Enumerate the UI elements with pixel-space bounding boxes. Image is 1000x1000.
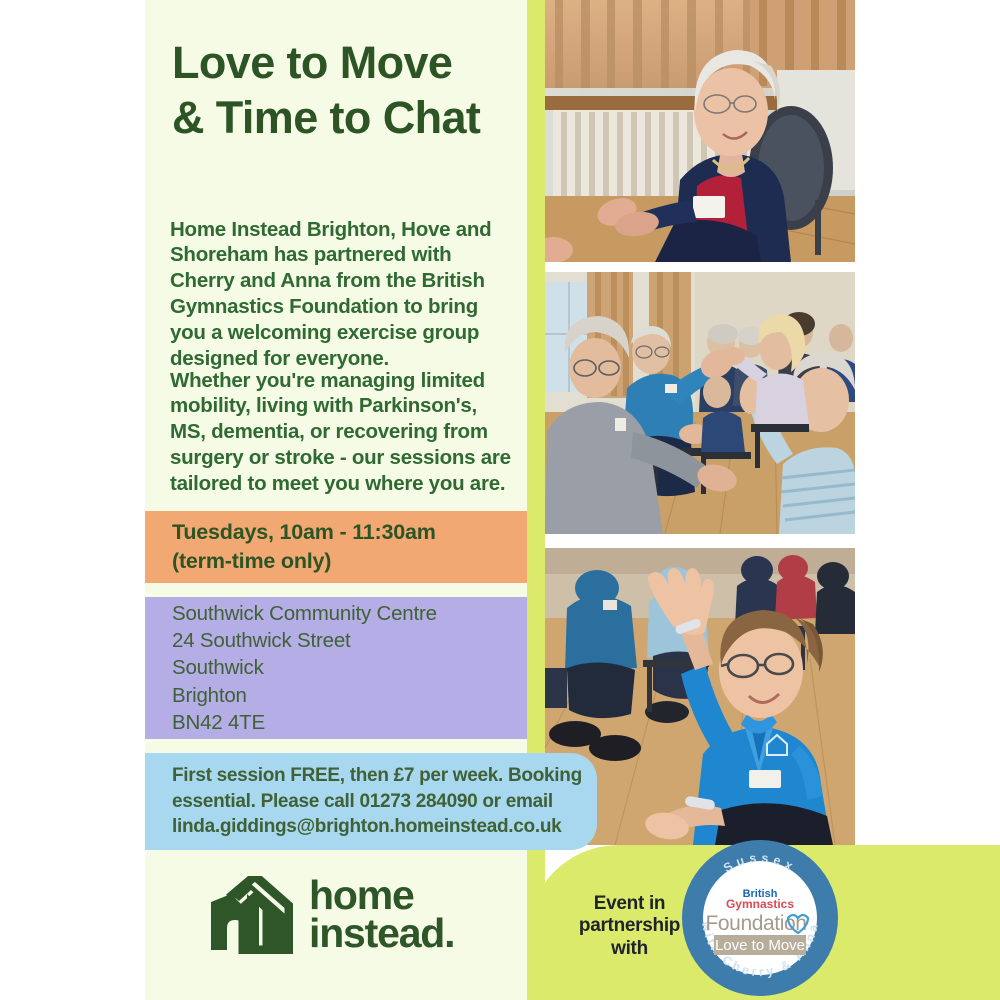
partnership-line-1: Event in <box>567 893 692 915</box>
address-line-postcode: BN42 4TE <box>172 709 437 736</box>
session-time-line-2: (term-time only) <box>172 547 436 576</box>
booking-info-block: First session FREE, then £7 per week. Bo… <box>145 753 597 850</box>
partnership-label: Event in partnership with <box>567 893 692 960</box>
partnership-line-2: partnership <box>567 915 692 937</box>
address-line-street: 24 Southwick Street <box>172 627 437 654</box>
badge-brand-gymnastics: Gymnastics <box>726 897 794 911</box>
session-time-text: Tuesdays, 10am - 11:30am (term-time only… <box>145 518 436 575</box>
headline-line-2: & Time to Chat <box>172 91 522 146</box>
home-instead-house-icon <box>207 876 293 954</box>
poster-headline: Love to Move & Time to Chat <box>172 36 522 146</box>
cream-content-panel <box>145 0 527 1000</box>
photo-seated-woman-clapping <box>545 0 855 262</box>
home-instead-logo: home instead. <box>207 872 477 958</box>
address-line-venue: Southwick Community Centre <box>172 600 437 627</box>
conditions-paragraph: Whether you're managing limited mobility… <box>170 368 515 497</box>
session-time-line-1: Tuesdays, 10am - 11:30am <box>172 518 436 547</box>
venue-address-block: Southwick Community Centre 24 Southwick … <box>145 597 527 739</box>
address-line-locality: Southwick <box>172 654 437 681</box>
logo-word-instead: instead <box>309 910 444 956</box>
booking-info-text: First session FREE, then £7 per week. Bo… <box>145 763 597 840</box>
poster-canvas: Love to Move & Time to Chat Home Instead… <box>0 0 1000 1000</box>
home-instead-wordmark: home instead. <box>309 877 454 952</box>
session-time-block: Tuesdays, 10am - 11:30am (term-time only… <box>145 511 527 583</box>
partnership-line-3: with <box>567 938 692 960</box>
photo-group-exercise-circle <box>545 272 855 534</box>
logo-word-instead-wrap: instead. <box>309 915 454 953</box>
badge-programme-label: Love to Move <box>715 937 805 954</box>
address-line-town: Brighton <box>172 682 437 709</box>
headline-line-1: Love to Move <box>172 37 452 88</box>
venue-address-text: Southwick Community Centre 24 Southwick … <box>145 600 437 737</box>
british-gymnastics-foundation-badge: Sussex with Cherry & Anna British Gymnas… <box>680 838 840 998</box>
intro-paragraph: Home Instead Brighton, Hove and Shoreham… <box>170 217 515 372</box>
logo-trademark-dot: . <box>444 910 454 956</box>
